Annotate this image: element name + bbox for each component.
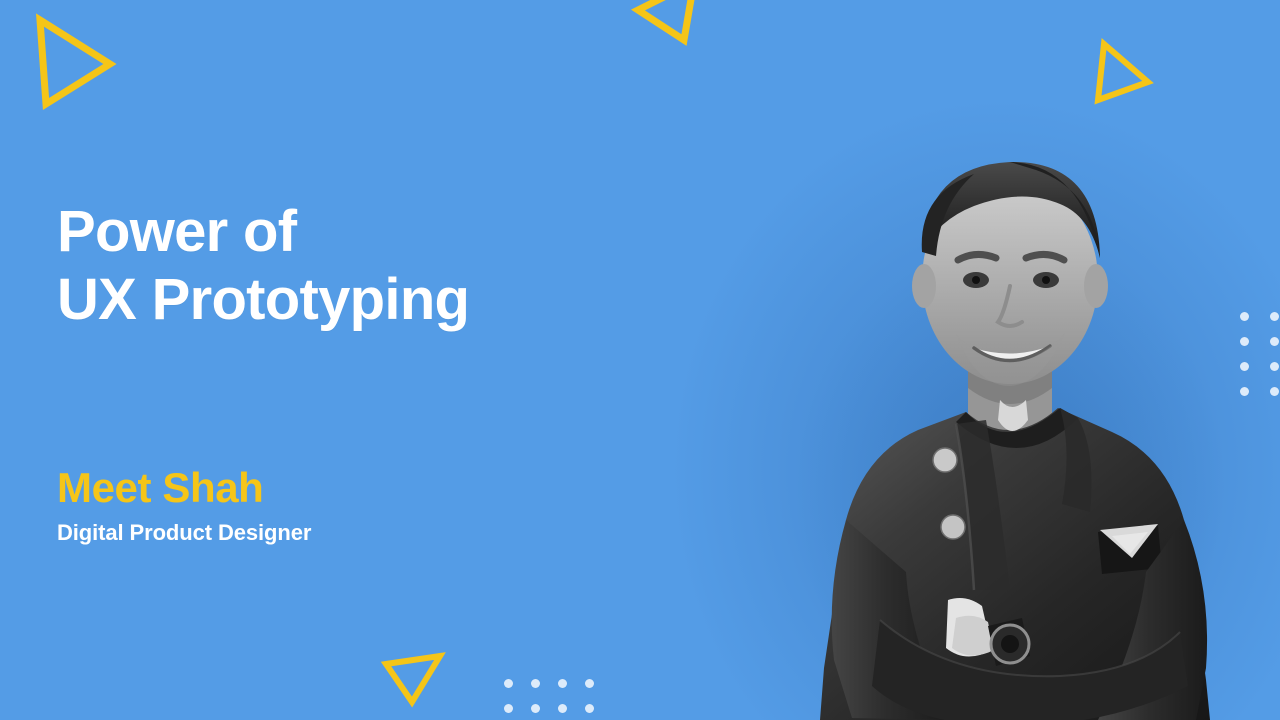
title-line-1: Power of	[57, 198, 697, 266]
speaker-block: Meet Shah Digital Product Designer	[57, 466, 311, 546]
page-title: Power of UX Prototyping	[57, 198, 697, 335]
title-block: Power of UX Prototyping	[57, 198, 697, 335]
title-slide: Power of UX Prototyping Meet Shah Digita…	[0, 0, 1280, 720]
slide-background	[0, 0, 1280, 720]
title-line-2: UX Prototyping	[57, 266, 697, 334]
speaker-role: Digital Product Designer	[57, 520, 311, 546]
speaker-name: Meet Shah	[57, 466, 311, 510]
